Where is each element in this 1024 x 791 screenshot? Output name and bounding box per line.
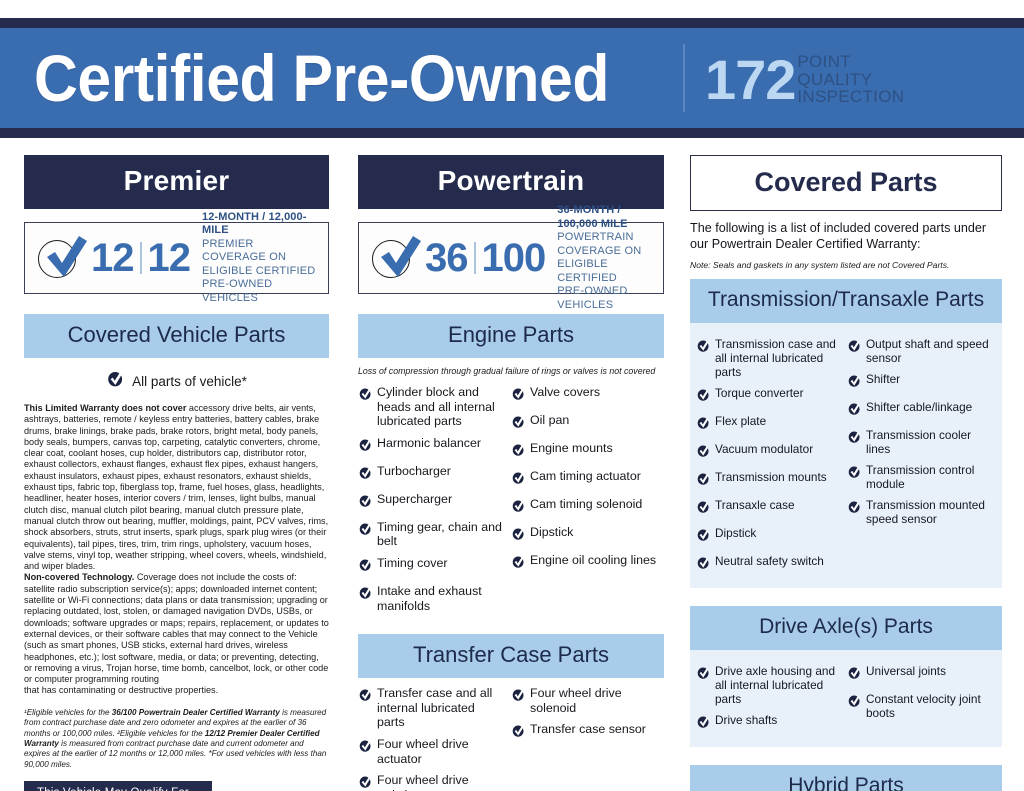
check-badge-icon — [358, 466, 372, 485]
covered-parts-note: Note: Seals and gaskets in any system li… — [690, 260, 1002, 270]
list-item-label: Timing gear, chain and belt — [377, 520, 505, 549]
list-item-label: Cylinder block and heads and all interna… — [377, 385, 505, 429]
check-badge-icon — [847, 666, 861, 685]
engine-parts-col-b: Valve coversOil panEngine mountsCam timi… — [511, 385, 664, 620]
check-badge-icon — [847, 402, 861, 421]
list-item-label: Shifter — [866, 372, 900, 386]
section-spacer — [690, 588, 1002, 597]
premier-desc-line-2: PREMIER COVERAGE ON — [202, 238, 318, 265]
powertrain-desc-line-2: POWERTRAIN COVERAGE ON — [557, 231, 653, 258]
list-item: Engine mounts — [511, 441, 658, 462]
list-item-label: Transfer case and all internal lubricate… — [377, 686, 505, 730]
list-item: Vacuum modulator — [696, 442, 841, 463]
engine-parts-banner: Engine Parts — [358, 314, 664, 358]
header-top-rule — [0, 18, 1024, 28]
inspection-line-2: QUALITY — [797, 71, 904, 89]
list-item-label: Shifter cable/linkage — [866, 400, 972, 414]
list-item-label: Turbocharger — [377, 464, 451, 479]
list-item: Engine oil cooling lines — [511, 553, 658, 574]
check-badge-icon — [358, 775, 372, 791]
list-item-label: Cam timing actuator — [530, 469, 641, 484]
list-item-label: Torque converter — [715, 386, 804, 400]
list-item: Transfer case sensor — [511, 722, 658, 743]
list-item: Flex plate — [696, 414, 841, 435]
check-badge-icon — [511, 499, 525, 518]
list-item: Cam timing actuator — [511, 469, 658, 490]
check-badge-icon — [847, 465, 861, 484]
exclusions-lead: This Limited Warranty does not cover — [24, 403, 186, 413]
covered-parts-title: Covered Parts — [690, 155, 1002, 211]
list-item: Timing gear, chain and belt — [358, 520, 505, 549]
list-item: Harmonic balancer — [358, 436, 505, 457]
check-badge-icon — [511, 527, 525, 546]
list-item: Supercharger — [358, 492, 505, 513]
page-header: Certified Pre-Owned 172 POINT QUALITY IN… — [0, 18, 1024, 138]
check-badge-icon — [696, 416, 710, 435]
powertrain-desc-line-4: PRE-OWNED VEHICLES — [557, 285, 653, 312]
check-badge-icon — [37, 235, 89, 281]
list-item-label: Transmission mounts — [715, 470, 827, 484]
qualify-button[interactable]: This Vehicle May Qualify For... — [24, 781, 212, 791]
premier-coverage-box: 12 12 12-MONTH / 12,000-MILE PREMIER COV… — [24, 222, 329, 294]
footnotes: ¹Eligible vehicles for the 36/100 Powert… — [24, 708, 329, 770]
column-covered-parts: Covered Parts The following is a list of… — [690, 155, 1002, 791]
premier-plan-title: Premier — [24, 155, 329, 209]
check-badge-icon — [847, 374, 861, 393]
list-item: Cylinder block and heads and all interna… — [358, 385, 505, 429]
list-item: Transmission cooler lines — [847, 428, 992, 456]
transfer-case-parts-list: Transfer case and all internal lubricate… — [358, 686, 664, 791]
check-badge-icon — [358, 586, 372, 605]
column-premier: Premier 12 12 12-MONTH / 12,000-MILE PRE… — [24, 155, 329, 791]
footnote-part-3: is measured from contract purchase date … — [24, 739, 326, 769]
tech-body: Coverage does not include the costs of: … — [24, 572, 329, 684]
drive-axle-parts-col-a: Drive axle housing and all internal lubr… — [696, 664, 847, 741]
check-badge-icon — [696, 528, 710, 547]
list-item-label: Valve covers — [530, 385, 600, 400]
list-item: Oil pan — [511, 413, 658, 434]
list-item-label: Transmission mounted speed sensor — [866, 498, 992, 526]
check-badge-icon — [358, 522, 372, 541]
list-item: Dipstick — [696, 526, 841, 547]
list-item: Drive shafts — [696, 713, 841, 734]
list-item-label: Drive axle housing and all internal lubr… — [715, 664, 841, 706]
transmission-parts-col-a: Transmission case and all internal lubri… — [696, 337, 847, 582]
list-item: Turbocharger — [358, 464, 505, 485]
check-badge-icon — [847, 694, 861, 713]
list-item-label: Transfer case sensor — [530, 722, 646, 737]
header-bottom-rule — [0, 128, 1024, 138]
certified-pre-owned-page: Certified Pre-Owned 172 POINT QUALITY IN… — [0, 0, 1024, 791]
check-badge-icon — [847, 500, 861, 519]
check-badge-icon — [358, 494, 372, 513]
premier-term-numbers: 12 12 — [91, 238, 190, 278]
check-badge-icon — [511, 415, 525, 434]
powertrain-desc-line-3: ELIGIBLE CERTIFIED — [557, 258, 653, 285]
list-item: Transmission mounts — [696, 470, 841, 491]
list-item: Torque converter — [696, 386, 841, 407]
covered-parts-intro: The following is a list of included cove… — [690, 221, 1002, 252]
list-item: Transfer case and all internal lubricate… — [358, 686, 505, 730]
inspection-badge: 172 POINT QUALITY INSPECTION — [705, 49, 904, 107]
check-badge-icon — [696, 388, 710, 407]
check-badge-icon — [511, 387, 525, 406]
list-item: Shifter — [847, 372, 992, 393]
list-item: Four wheel drive switch — [358, 773, 505, 791]
number-separator — [140, 242, 142, 274]
inspection-line-1: POINT — [797, 53, 904, 71]
list-item-label: Dipstick — [530, 525, 573, 540]
list-item: Constant velocity joint boots — [847, 692, 992, 720]
engine-parts-col-a: Cylinder block and heads and all interna… — [358, 385, 511, 620]
check-badge-icon — [696, 715, 710, 734]
header-divider — [683, 44, 685, 112]
powertrain-coverage-box: 36 100 36-MONTH / 100,000 MILE POWERTRAI… — [358, 222, 664, 294]
inspection-count: 172 — [705, 53, 795, 107]
list-item: Output shaft and speed sensor — [847, 337, 992, 365]
engine-parts-list: Cylinder block and heads and all interna… — [358, 385, 664, 620]
list-item-label: Cam timing solenoid — [530, 497, 642, 512]
list-item-label: Vacuum modulator — [715, 442, 813, 456]
list-item-label: Transmission case and all internal lubri… — [715, 337, 841, 379]
check-badge-icon — [511, 443, 525, 462]
list-item-label: Intake and exhaust manifolds — [377, 584, 505, 613]
list-item-label: Neutral safety switch — [715, 554, 824, 568]
check-badge-icon — [511, 471, 525, 490]
check-badge-icon — [358, 739, 372, 758]
list-item-label: Timing cover — [377, 556, 447, 571]
columns-container: Premier 12 12 12-MONTH / 12,000-MILE PRE… — [0, 155, 1024, 791]
check-badge-icon — [511, 688, 525, 707]
check-badge-icon — [696, 666, 710, 685]
check-badge-icon — [696, 472, 710, 491]
list-item: Neutral safety switch — [696, 554, 841, 575]
premier-desc-line-4: PRE-OWNED VEHICLES — [202, 278, 318, 305]
powertrain-term-numbers: 36 100 — [425, 238, 545, 278]
list-item: Transaxle case — [696, 498, 841, 519]
transmission-parts-banner: Transmission/Transaxle Parts — [690, 279, 1002, 323]
transfer-case-parts-banner: Transfer Case Parts — [358, 634, 664, 678]
list-item: Valve covers — [511, 385, 658, 406]
list-item-label: Transmission control module — [866, 463, 992, 491]
list-item: Four wheel drive actuator — [358, 737, 505, 766]
list-item-label: Four wheel drive actuator — [377, 737, 505, 766]
check-badge-icon — [358, 558, 372, 577]
check-badge-icon — [696, 444, 710, 463]
drive-axle-parts-list: Drive axle housing and all internal lubr… — [690, 658, 1002, 741]
check-badge-icon — [511, 724, 525, 743]
check-badge-icon — [358, 688, 372, 707]
list-item-label: Transaxle case — [715, 498, 795, 512]
transfer-parts-col-a: Transfer case and all internal lubricate… — [358, 686, 511, 791]
check-badge-icon — [847, 339, 861, 358]
premier-desc-line-3: ELIGIBLE CERTIFIED — [202, 265, 318, 279]
tech-tail: that has contaminating or destructive pr… — [24, 685, 329, 696]
premier-coverage-description: 12-MONTH / 12,000-MILE PREMIER COVERAGE … — [202, 211, 318, 306]
list-item-label: Transmission cooler lines — [866, 428, 992, 456]
all-parts-row: All parts of vehicle* — [24, 370, 329, 393]
hybrid-section: Hybrid Parts Hybrid motorHybrid battery … — [690, 765, 1002, 791]
powertrain-coverage-description: 36-MONTH / 100,000 MILE POWERTRAIN COVER… — [557, 204, 653, 312]
list-item: Intake and exhaust manifolds — [358, 584, 505, 613]
check-badge-icon — [358, 438, 372, 457]
footnote-warranty-36-100: 36/100 Powertrain Dealer Certified Warra… — [112, 708, 280, 717]
premier-desc-line-1: 12-MONTH / 12,000-MILE — [202, 211, 318, 238]
transfer-parts-col-b: Four wheel drive solenoidTransfer case s… — [511, 686, 664, 791]
transmission-parts-list: Transmission case and all internal lubri… — [690, 331, 1002, 582]
check-badge-icon — [358, 387, 372, 406]
powertrain-months: 36 — [425, 238, 468, 278]
list-item: Transmission control module — [847, 463, 992, 491]
transmission-parts-col-b: Output shaft and speed sensorShifterShif… — [847, 337, 998, 582]
drive-axle-section: Drive Axle(s) Parts Drive axle housing a… — [690, 606, 1002, 747]
list-item: Universal joints — [847, 664, 992, 685]
list-item-label: Four wheel drive solenoid — [530, 686, 658, 715]
premier-months: 12 — [91, 238, 134, 278]
powertrain-plan-title: Powertrain — [358, 155, 664, 209]
list-item-label: Dipstick — [715, 526, 756, 540]
column-powertrain: Powertrain 36 100 36-MONTH / 100,000 MIL… — [358, 155, 664, 791]
list-item: Four wheel drive solenoid — [511, 686, 658, 715]
check-badge-icon — [511, 555, 525, 574]
check-badge-icon — [696, 339, 710, 358]
list-item-label: Flex plate — [715, 414, 766, 428]
inspection-line-3: INSPECTION — [797, 88, 904, 106]
check-badge-icon — [106, 370, 124, 393]
check-badge-icon — [696, 500, 710, 519]
page-title: Certified Pre-Owned — [34, 45, 609, 111]
list-item-label: Universal joints — [866, 664, 946, 678]
list-item-label: Engine mounts — [530, 441, 613, 456]
transmission-section: Transmission/Transaxle Parts Transmissio… — [690, 279, 1002, 588]
list-item-label: Oil pan — [530, 413, 569, 428]
drive-axle-parts-banner: Drive Axle(s) Parts — [690, 606, 1002, 650]
list-item-label: Output shaft and speed sensor — [866, 337, 992, 365]
hybrid-parts-banner: Hybrid Parts — [690, 765, 1002, 791]
list-item: Transmission case and all internal lubri… — [696, 337, 841, 379]
list-item-label: Harmonic balancer — [377, 436, 481, 451]
engine-parts-note: Loss of compression through gradual fail… — [358, 366, 664, 377]
check-badge-icon — [696, 556, 710, 575]
exclusions-body: accessory drive belts, air vents, ashtra… — [24, 403, 328, 571]
list-item-label: Supercharger — [377, 492, 452, 507]
powertrain-miles: 100 — [482, 238, 546, 278]
all-parts-label: All parts of vehicle* — [132, 374, 247, 389]
list-item: Cam timing solenoid — [511, 497, 658, 518]
header-band: Certified Pre-Owned 172 POINT QUALITY IN… — [0, 28, 1024, 128]
list-item-label: Engine oil cooling lines — [530, 553, 656, 568]
exclusions-paragraph: This Limited Warranty does not cover acc… — [24, 403, 329, 697]
footnote-part-1: ¹Eligible vehicles for the — [24, 708, 112, 717]
list-item-label: Drive shafts — [715, 713, 777, 727]
inspection-label: POINT QUALITY INSPECTION — [797, 53, 904, 106]
covered-vehicle-parts-banner: Covered Vehicle Parts — [24, 314, 329, 358]
list-item: Shifter cable/linkage — [847, 400, 992, 421]
list-item: Transmission mounted speed sensor — [847, 498, 992, 526]
check-badge-icon — [847, 430, 861, 449]
check-badge-icon — [371, 235, 423, 281]
premier-miles: 12 — [148, 238, 191, 278]
list-item-label: Constant velocity joint boots — [866, 692, 992, 720]
number-separator — [474, 242, 476, 274]
section-spacer — [690, 747, 1002, 756]
list-item: Dipstick — [511, 525, 658, 546]
drive-axle-parts-col-b: Universal jointsConstant velocity joint … — [847, 664, 998, 741]
powertrain-desc-line-1: 36-MONTH / 100,000 MILE — [557, 204, 653, 231]
list-item: Timing cover — [358, 556, 505, 577]
list-item: Drive axle housing and all internal lubr… — [696, 664, 841, 706]
list-item-label: Four wheel drive switch — [377, 773, 505, 791]
tech-lead: Non-covered Technology. — [24, 572, 134, 582]
